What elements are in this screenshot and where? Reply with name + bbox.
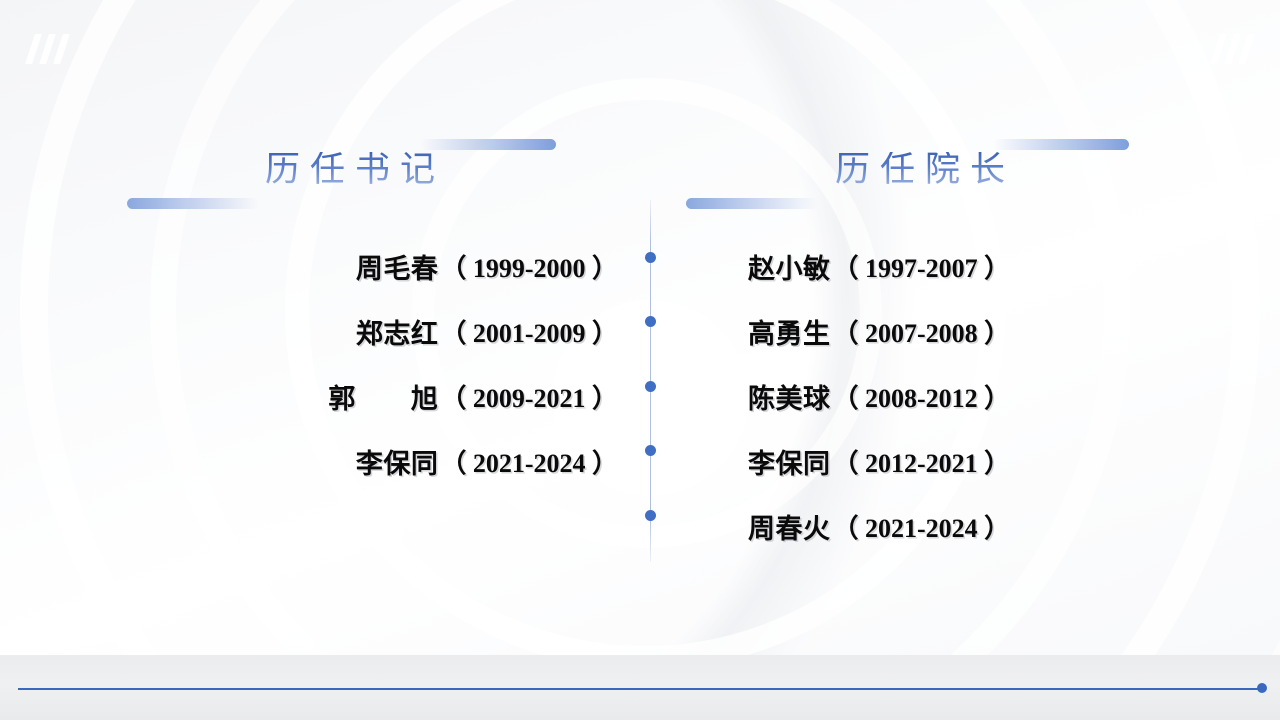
list-item: 高勇生 （ 2007-2008 ）	[640, 299, 1200, 364]
content-columns: 历任书记 周毛春 （ 1999-2000 ） 郑志红 （ 2001-2009 ）…	[0, 0, 1280, 720]
list-item: 李保同 （ 2012-2021 ）	[640, 429, 1200, 494]
entry-years: （ 1999-2000 ）	[440, 248, 618, 285]
divider-bullet-icon	[645, 316, 656, 327]
divider-bullet-icon	[645, 381, 656, 392]
heading-bar-top	[993, 139, 1129, 150]
entry-years: （ 1997-2007 ）	[833, 248, 1011, 285]
entry-name: 李保同	[748, 442, 831, 481]
list-item: 郭 旭 （ 2009-2021 ）	[70, 364, 630, 429]
list-item: 赵小敏 （ 1997-2007 ）	[640, 234, 1200, 299]
list-item: 李保同 （ 2021-2024 ）	[70, 429, 630, 494]
divider-bullet-icon	[645, 252, 656, 263]
entry-years: （ 2021-2024 ）	[440, 443, 618, 480]
heading-bar-bottom	[127, 198, 259, 209]
column-heading-deans: 历任院长	[640, 152, 1200, 187]
entry-years: （ 2021-2024 ）	[833, 508, 1011, 545]
list-item: 周毛春 （ 1999-2000 ）	[70, 234, 630, 299]
column-secretaries: 历任书记 周毛春 （ 1999-2000 ） 郑志红 （ 2001-2009 ）…	[70, 0, 630, 600]
divider-bullet-icon	[645, 445, 656, 456]
entry-name: 赵小敏	[748, 247, 831, 286]
entry-years: （ 2001-2009 ）	[440, 313, 618, 350]
entry-name: 郑志红	[356, 312, 439, 351]
list-item: 郑志红 （ 2001-2009 ）	[70, 299, 630, 364]
slide-canvas: 历任书记 周毛春 （ 1999-2000 ） 郑志红 （ 2001-2009 ）…	[0, 0, 1280, 720]
list-item: 周春火 （ 2021-2024 ）	[640, 494, 1200, 559]
heading-block-deans: 历任院长	[640, 0, 1200, 110]
entry-years: （ 2012-2021 ）	[833, 443, 1011, 480]
entry-list-deans: 赵小敏 （ 1997-2007 ） 高勇生 （ 2007-2008 ） 陈美球 …	[640, 234, 1200, 559]
entry-name: 李保同	[356, 442, 439, 481]
entry-years: （ 2007-2008 ）	[833, 313, 1011, 350]
footer-accent-line	[18, 688, 1262, 690]
entry-list-secretaries: 周毛春 （ 1999-2000 ） 郑志红 （ 2001-2009 ） 郭 旭 …	[70, 234, 630, 494]
entry-name: 郭 旭	[328, 377, 438, 416]
heading-bar-top	[420, 139, 556, 150]
column-deans: 历任院长 赵小敏 （ 1997-2007 ） 高勇生 （ 2007-2008 ）…	[640, 0, 1200, 600]
entry-name: 周毛春	[356, 247, 439, 286]
entry-name: 陈美球	[748, 377, 831, 416]
footer-endpoint-dot-icon	[1257, 683, 1267, 693]
heading-bar-bottom	[686, 198, 818, 209]
column-heading-secretaries: 历任书记	[70, 152, 630, 187]
entry-years: （ 2009-2021 ）	[440, 378, 618, 415]
list-item: 陈美球 （ 2008-2012 ）	[640, 364, 1200, 429]
entry-name: 周春火	[748, 507, 831, 546]
entry-name: 高勇生	[748, 312, 831, 351]
entry-years: （ 2008-2012 ）	[833, 378, 1011, 415]
divider-bullet-icon	[645, 510, 656, 521]
heading-block-secretaries: 历任书记	[70, 0, 630, 110]
